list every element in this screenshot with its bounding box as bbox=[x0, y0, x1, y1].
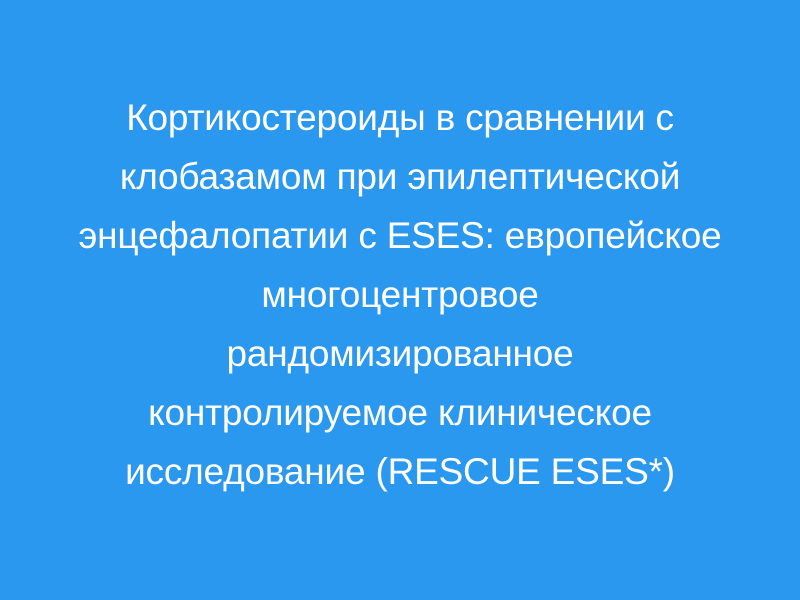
title-slide: Кортикостероиды в сравнении с клобазамом… bbox=[0, 0, 800, 600]
title-line-2: клобазамом при эпилептической bbox=[40, 147, 760, 206]
title-line-7: исследование (RESCUE ESES*) bbox=[40, 442, 760, 501]
slide-title: Кортикостероиды в сравнении с клобазамом… bbox=[40, 88, 760, 501]
title-line-6: контролируемое клиническое bbox=[40, 383, 760, 442]
title-line-1: Кортикостероиды в сравнении с bbox=[40, 88, 760, 147]
title-line-5: рандомизированное bbox=[40, 324, 760, 383]
title-line-4: многоцентровое bbox=[40, 265, 760, 324]
title-line-3: энцефалопатии с ESES: европейское bbox=[40, 206, 760, 265]
